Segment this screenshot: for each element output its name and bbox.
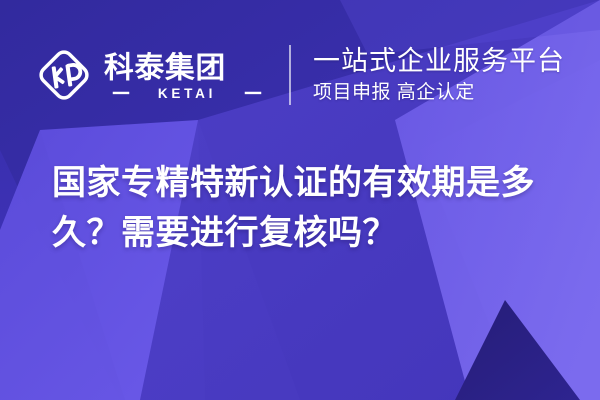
- wordmark-rule-left: [112, 91, 129, 93]
- slogan-main: 一站式企业服务平台: [313, 44, 565, 78]
- slogan-block: 一站式企业服务平台 项目申报 高企认定: [291, 44, 565, 106]
- banner-header: 科泰集团 KETAI 一站式企业服务平台 项目申报 高企认定: [0, 0, 600, 150]
- wordmark-cn-text: 科泰集团: [104, 51, 226, 84]
- promo-banner: 科泰集团 KETAI 一站式企业服务平台 项目申报 高企认定 国家专精特新认证的…: [0, 0, 600, 400]
- ketai-diamond-kp-icon: [35, 46, 93, 104]
- page-title: 国家专精特新认证的有效期是多久？需要进行复核吗？: [52, 158, 572, 258]
- slogan-sub: 项目申报 高企认定: [313, 80, 475, 106]
- brand-logo: 科泰集团 KETAI: [35, 46, 289, 104]
- wordmark-cn-icon: 科泰集团: [104, 51, 269, 84]
- ketai-wordmark: 科泰集团 KETAI: [104, 51, 269, 100]
- wordmark-rule-right: [244, 91, 261, 93]
- wordmark-en-text: KETAI: [157, 85, 215, 99]
- wordmark-en-icon: KETAI: [112, 85, 262, 100]
- headline-block: 国家专精特新认证的有效期是多久？需要进行复核吗？: [52, 158, 572, 258]
